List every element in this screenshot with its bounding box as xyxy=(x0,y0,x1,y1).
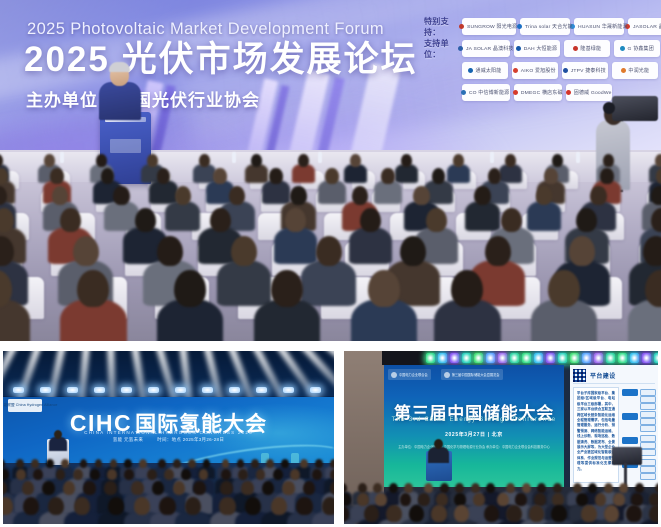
sponsor-logo: 通威太阳能 xyxy=(462,62,508,79)
audience-person-head xyxy=(245,497,261,515)
audience-person-body xyxy=(301,260,356,306)
audience-person-head xyxy=(357,493,369,506)
audience-person-head xyxy=(375,493,387,506)
audience-person-head xyxy=(77,270,109,307)
truss-lamp-icon xyxy=(486,353,495,363)
audience-person-head xyxy=(548,270,580,307)
audience-person-head xyxy=(522,483,531,493)
storage-speaker-head xyxy=(434,439,443,449)
audience-person-head xyxy=(134,497,150,515)
audience-person-head xyxy=(96,154,107,167)
audience-person-head xyxy=(185,497,201,515)
audience-person-head xyxy=(364,505,379,522)
hydrogen-theme: 氢能 元氢未来 xyxy=(113,437,143,443)
diagram-node xyxy=(640,435,656,442)
sponsor-logo: DMEGC 横店东磁 xyxy=(514,84,562,101)
sponsor-logo: 固德威 GoodWe xyxy=(566,84,612,101)
audience-person-head xyxy=(303,481,316,495)
audience-person-head xyxy=(316,236,342,266)
diagram-node xyxy=(640,442,656,449)
audience-person-head xyxy=(237,459,245,468)
audience-person-head xyxy=(613,493,625,506)
audience-person-head xyxy=(552,154,563,167)
hydrogen-congress-photo: 中国氢能联盟 China Hydrogen Alliance CIHC国际氢能大… xyxy=(3,351,334,524)
storage-organizers-line: 主办单位：中国电力企业联合会 中国化学与物理电源行业协会 承办单位：中国电力企业… xyxy=(398,445,550,450)
audience-person-head xyxy=(188,459,196,468)
audience-person-head xyxy=(325,168,339,184)
audience-person-head xyxy=(181,469,191,480)
hydrogen-speaker-body xyxy=(49,437,67,451)
audience-person-head xyxy=(231,236,257,266)
audience-person-head xyxy=(74,497,90,515)
truss-lamp-icon xyxy=(606,353,615,363)
header-badge: 第三届中国国际储能大会暨展览会 xyxy=(441,369,503,380)
audience-person-head xyxy=(152,481,165,495)
sponsor-logo-mark-icon xyxy=(620,46,625,51)
truss-lamp-icon xyxy=(450,353,459,363)
hydrogen-date: 时间：地点 2025年3月26-28日 xyxy=(157,437,224,443)
supporting-units-logos-row2: 通威太阳能AIKO 爱旭股份JTPV 捷泰科技中润光能DMI 大族数控 xyxy=(462,62,661,79)
audience-person-head xyxy=(147,154,158,167)
audience-person-head xyxy=(296,497,312,515)
stage-lamp-icon xyxy=(40,387,51,393)
stage-lamp-icon xyxy=(202,387,213,393)
sponsor-logo: JASOLAR 晶澳智慧 xyxy=(628,18,661,35)
stage-lamp-icon xyxy=(67,387,78,393)
audience-person-head xyxy=(604,505,619,522)
truss-lamp-icon xyxy=(558,353,567,363)
audience-person-body xyxy=(217,260,272,306)
audience-person-body xyxy=(447,164,470,183)
hydrogen-speaker-head xyxy=(54,430,62,439)
audience-person-head xyxy=(649,505,658,522)
diagram-node xyxy=(640,403,656,410)
truss-lamp-icon xyxy=(654,353,658,363)
supporting-units-label: 支持单位： xyxy=(424,38,462,60)
audience-person-head xyxy=(60,208,81,232)
sponsor-logo: JA SOLAR 晶澳科技 xyxy=(462,40,510,57)
audience-person-head xyxy=(199,469,209,480)
audience-person-head xyxy=(655,483,658,493)
sponsor-logo-mark-icon xyxy=(517,24,522,29)
header-badge-text: 第三届中国国际储能大会暨展览会 xyxy=(452,372,500,377)
audience-person-head xyxy=(300,459,308,468)
audience-person-head xyxy=(358,483,367,493)
sponsor-logo-text: 隆基绿能 xyxy=(580,45,601,52)
water-bottle xyxy=(318,152,322,163)
speaker-hair xyxy=(109,62,130,72)
audience-person-head xyxy=(400,493,412,506)
slide-text-box: 平台子库国家级平台、集团级/区域级平台、电站级平台三级部署，其中，三家以平台统合… xyxy=(573,387,619,483)
audience-person-head xyxy=(46,459,54,468)
sponsor-logo: AIKO 爱旭股份 xyxy=(512,62,558,79)
truss-lamp-icon xyxy=(546,353,555,363)
audience-person-head xyxy=(515,493,527,506)
audience-person-head xyxy=(573,483,582,493)
sponsor-logo-mark-icon xyxy=(566,90,571,95)
sponsor-logo-text: Trina solar 天合光能 xyxy=(525,23,573,30)
supporting-units-logos-row1: JA SOLAR 晶澳科技DAH 大恒能源隆基绿能G 协鑫集团阿特斯阳光 xyxy=(462,40,661,57)
audience-person-head xyxy=(290,469,300,480)
audience-person-head xyxy=(16,469,26,480)
lighting-truss xyxy=(382,351,658,365)
audience-person-head xyxy=(455,483,464,493)
photo-collage: 2025 Photovoltaic Market Development For… xyxy=(0,0,661,527)
audience-person-head xyxy=(551,505,566,522)
audience-person-head xyxy=(655,154,661,167)
audience-person-head xyxy=(344,493,351,506)
sponsor-logo-mark-icon xyxy=(573,46,578,51)
audience-person-head xyxy=(322,497,334,515)
audience-person-body xyxy=(104,201,139,230)
audience-person-head xyxy=(52,186,69,205)
audience-person-head xyxy=(251,154,262,167)
audience-person-head xyxy=(431,505,446,522)
audience-person-head xyxy=(266,459,274,468)
audience-person-head xyxy=(643,236,661,266)
audience-person-head xyxy=(241,481,254,495)
special-support-logos: SUNGROW 阳光电源Trina solar 天合光能HUASUN 华晟新能源… xyxy=(462,18,661,35)
audience-person-head xyxy=(454,505,469,522)
audience-person-head xyxy=(529,505,544,522)
diagram-node xyxy=(640,473,656,480)
sponsor-logo-text: AIKO 爱旭股份 xyxy=(521,67,556,74)
audience-person-head xyxy=(282,481,295,495)
sponsor-logo-text: 固德威 GoodWe xyxy=(574,89,612,96)
audience-person-head xyxy=(44,154,55,167)
audience-person-head xyxy=(271,497,287,515)
slide-body-text: 平台子库国家级平台、集团级/区域级平台、电站级平台三级部署，其中，三家以平台统合… xyxy=(577,391,615,472)
stage-lamp-icon xyxy=(229,387,240,393)
audience-person-head xyxy=(147,469,157,480)
audience-person-head xyxy=(651,208,661,232)
truss-lamp-icon xyxy=(474,353,483,363)
audience-person-head xyxy=(101,168,115,184)
audience-person-head xyxy=(409,505,424,522)
audience-person-head xyxy=(590,186,607,205)
forum-host-line: 主办单位：中国光伏行业协会 xyxy=(26,86,260,111)
audience-person-head xyxy=(536,186,553,205)
audience-person-head xyxy=(635,483,644,493)
audience-person-head xyxy=(485,236,511,266)
audience-person-head xyxy=(251,459,259,468)
audience-person-head xyxy=(159,497,175,515)
audience-person-head xyxy=(553,483,562,493)
audience-person-body xyxy=(349,227,393,264)
audience-person-head xyxy=(537,483,546,493)
slide-title: 平台建设 xyxy=(590,371,616,380)
audience-person-head xyxy=(61,459,69,468)
audience-person-head xyxy=(497,493,509,506)
audience-person-head xyxy=(193,481,206,495)
audience-person-head xyxy=(330,481,334,495)
audience-person-head xyxy=(210,208,231,232)
audience-person-head xyxy=(330,469,334,480)
sponsor-logo-mark-icon xyxy=(516,46,521,51)
audience-person-head xyxy=(56,469,66,480)
audience-person-head xyxy=(426,208,447,232)
audience-person-head xyxy=(16,459,24,468)
audience-person-head xyxy=(401,154,412,167)
water-bottle xyxy=(232,152,236,163)
forum-title-english: 2025 Photovoltaic Market Development For… xyxy=(27,20,384,39)
audience-person-head xyxy=(213,168,227,184)
audience-person-head xyxy=(576,208,597,232)
audience-person-head xyxy=(164,469,174,480)
storage-speaker-body xyxy=(428,447,449,463)
audience-person-head xyxy=(381,168,395,184)
truss-lamp-icon xyxy=(438,353,447,363)
audience-person-head xyxy=(600,168,614,184)
sponsor-logo-mark-icon xyxy=(461,90,466,95)
energy-storage-conference-photo: 中国电力企业联合会 第三届中国国际储能大会暨展览会 第三届中国储能大会 The … xyxy=(344,351,658,524)
truss-lamp-icon xyxy=(618,353,627,363)
audience-person-body xyxy=(527,201,562,230)
audience-person-head xyxy=(238,469,248,480)
audience-person-head xyxy=(473,493,485,506)
audience-person-head xyxy=(50,168,64,184)
audience-person-head xyxy=(63,481,76,495)
diagram-node xyxy=(640,411,656,418)
audience-person-head xyxy=(424,483,433,493)
audience-person-head xyxy=(124,469,134,480)
audience-person-head xyxy=(569,236,595,266)
audience-person-head xyxy=(474,186,491,205)
stage-lamp-icon xyxy=(13,387,24,393)
sponsor-logo: JTPV 捷泰科技 xyxy=(562,62,608,79)
audience-person-head xyxy=(453,154,464,167)
sponsor-logo-text: HUASUN 华晟新能源 xyxy=(578,23,628,30)
audience-person-head xyxy=(31,459,39,468)
badge-seal-icon xyxy=(391,372,397,378)
audience-person-head xyxy=(173,481,186,495)
sponsor-logo-text: SUNGROW 阳光电源 xyxy=(467,23,517,30)
audience-person-head xyxy=(604,483,613,493)
podium-text-panel xyxy=(110,139,141,153)
stage-lamp-icon xyxy=(121,387,132,393)
sponsor-logo-text: G 协鑫集团 xyxy=(627,45,653,52)
audience-person-head xyxy=(626,505,641,522)
audience-person-head xyxy=(113,186,130,205)
sponsor-logo-text: CO 中信博新能源 xyxy=(469,89,509,96)
storage-title-english: The 3rd China Energy Storage Conference xyxy=(384,417,564,423)
forum-title-chinese: 2025 光伏市场发展论坛 xyxy=(24,40,418,80)
audience-person-head xyxy=(0,168,8,184)
audience-person-body xyxy=(245,164,268,183)
supporting-units-row: 支持单位： JA SOLAR 晶澳科技DAH 大恒能源隆基绿能G 协鑫集团阿特斯… xyxy=(424,39,658,58)
sponsor-logo: Trina solar 天合光能 xyxy=(520,18,570,35)
audience-person-head xyxy=(368,270,400,307)
audience-person-head xyxy=(131,481,144,495)
storage-date-line: 2025年3月27日 | 北京 xyxy=(384,431,564,438)
main-forum-photo: 2025 Photovoltaic Market Development For… xyxy=(0,0,661,341)
truss-lamp-icon xyxy=(462,353,471,363)
audience-person-head xyxy=(389,483,398,493)
sponsor-logo-mark-icon xyxy=(621,68,626,73)
diagram-node xyxy=(640,418,656,425)
special-support-label: 特别支持： xyxy=(424,16,462,38)
audience-person-head xyxy=(451,270,483,307)
audience-person-head xyxy=(404,483,413,493)
sponsor-logo-text: JASOLAR 晶澳智慧 xyxy=(633,23,661,30)
audience-hall xyxy=(0,150,661,341)
special-support-row: 特别支持： SUNGROW 阳光电源Trina solar 天合光能HUASUN… xyxy=(424,17,658,36)
audience-person-head xyxy=(505,154,516,167)
audience-person-head xyxy=(588,483,597,493)
audience-person-head xyxy=(80,459,88,468)
audience-person-head xyxy=(501,208,522,232)
sponsor-logo: 隆基绿能 xyxy=(564,40,610,57)
audience-person-head xyxy=(506,505,521,522)
audience-person-head xyxy=(312,469,322,480)
audience-person-head xyxy=(271,270,303,307)
sponsor-logo-mark-icon xyxy=(513,90,518,95)
sponsor-logo-text: DAH 大恒能源 xyxy=(524,45,557,52)
audience-person-head xyxy=(219,497,235,515)
audience-person-head xyxy=(157,236,183,266)
diagram-node xyxy=(640,466,656,473)
audience-person-head xyxy=(285,208,306,232)
sponsor-logo-text: 通威太阳能 xyxy=(476,67,502,74)
audience-person-head xyxy=(360,208,381,232)
audience-person-body xyxy=(165,201,200,230)
stage-lamp-icon xyxy=(175,387,186,393)
truss-lamp-icon xyxy=(510,353,519,363)
audience-person-head xyxy=(273,469,283,480)
audience-person-head xyxy=(110,459,118,468)
audience-person-head xyxy=(158,459,166,468)
storage-broadcast-camera-icon xyxy=(612,447,642,465)
audience-person-head xyxy=(104,481,117,495)
audience-person-head xyxy=(488,168,502,184)
sponsor-logo-text: 中润光能 xyxy=(628,67,649,74)
sponsor-logo: CO 中信博新能源 xyxy=(462,84,510,101)
audience-person-head xyxy=(229,186,246,205)
header-badge: 中国电力企业联合会 xyxy=(388,369,431,380)
audience-person-body xyxy=(465,201,500,230)
audience-person-head xyxy=(603,154,614,167)
audience-person-head xyxy=(157,168,171,184)
speaker-body xyxy=(99,82,141,120)
audience-person-head xyxy=(203,459,211,468)
truss-lamp-icon xyxy=(534,353,543,363)
audience-person-head xyxy=(373,483,382,493)
audience-person-head xyxy=(595,493,607,506)
diagram-node xyxy=(640,449,656,456)
audience-person-head xyxy=(315,459,323,468)
sponsor-logo: SUNGROW 阳光电源 xyxy=(462,18,516,35)
truss-lamp-icon xyxy=(570,353,579,363)
sponsor-logo-panel: 特别支持： SUNGROW 阳光电源Trina solar 天合光能HUASUN… xyxy=(424,17,658,105)
slide-header: 平台建设 xyxy=(573,368,655,384)
truss-lamp-icon xyxy=(594,353,603,363)
audience-person-head xyxy=(135,208,156,232)
audience-person-body xyxy=(344,164,367,183)
qr-code-icon xyxy=(573,369,586,382)
audience-person-head xyxy=(199,154,210,167)
audience-person-head xyxy=(220,481,233,495)
audience-person-head xyxy=(139,459,147,468)
diagram-node xyxy=(640,389,656,396)
sponsor-logo-mark-icon xyxy=(468,68,473,73)
truss-lamp-icon xyxy=(642,353,651,363)
audience-person-body xyxy=(292,164,315,183)
truss-lamp-icon xyxy=(582,353,591,363)
sponsor-logo: G 协鑫集团 xyxy=(614,40,660,57)
audience-person-body xyxy=(274,227,318,264)
audience-person-head xyxy=(269,168,283,184)
sponsor-logo-mark-icon xyxy=(459,24,464,29)
audience-person-head xyxy=(73,236,99,266)
audience-person-head xyxy=(413,186,430,205)
presentation-slide-panel: 平台建设 平台子库国家级平台、集团级/区域级平台、电站级平台三级部署，其中，三家… xyxy=(570,365,658,487)
audience-person-head xyxy=(95,459,103,468)
audience-person-body xyxy=(318,180,346,204)
audience-person-head xyxy=(256,469,266,480)
diagram-node xyxy=(622,389,638,396)
audience-person-head xyxy=(290,186,307,205)
audience-person-head xyxy=(352,186,369,205)
stage-lamp-icon xyxy=(283,387,294,393)
audience-person-head xyxy=(262,481,275,495)
audience-person-head xyxy=(124,459,132,468)
sponsor-logo-mark-icon xyxy=(458,46,463,51)
water-bottle xyxy=(60,152,64,163)
supporting-units-row: 通威太阳能AIKO 爱旭股份JTPV 捷泰科技中润光能DMI 大族数控 xyxy=(424,61,658,80)
audience-person-head xyxy=(656,168,661,184)
sponsor-logo: DAH 大恒能源 xyxy=(514,40,560,57)
audience-person-head xyxy=(23,497,39,515)
sponsor-logo-mark-icon xyxy=(563,68,568,73)
truss-lamp-icon xyxy=(522,353,531,363)
audience-person-head xyxy=(73,469,83,480)
audience-person-head xyxy=(471,483,480,493)
water-bottle xyxy=(576,152,580,163)
truss-lamp-icon xyxy=(630,353,639,363)
audience-person-head xyxy=(418,493,430,506)
diagram-node xyxy=(640,425,656,432)
audience-person-head xyxy=(222,459,230,468)
stage-lamp-icon xyxy=(256,387,267,393)
audience-person-head xyxy=(651,186,661,205)
audience-person-head xyxy=(350,154,361,167)
stage-lamp-icon xyxy=(94,387,105,393)
audience-person-body xyxy=(374,180,402,204)
storage-stage-screen: 中国电力企业联合会 第三届中国国际储能大会暨展览会 第三届中国储能大会 The … xyxy=(384,365,564,487)
hydrogen-title-english: CHINA INTERNATIONAL HYDROGEN CONGRESS 20… xyxy=(3,430,334,435)
audience-person-head xyxy=(175,186,192,205)
audience-person-head xyxy=(484,505,499,522)
diagram-node xyxy=(640,396,656,403)
diagram-node xyxy=(622,413,638,420)
diagram-node xyxy=(622,437,638,444)
audience-person-head xyxy=(400,236,426,266)
header-badge-text: 中国电力企业联合会 xyxy=(399,372,428,377)
diagram-node xyxy=(640,459,656,466)
audience-person-head xyxy=(90,469,100,480)
sponsor-logo-text: DMEGC 横店东磁 xyxy=(521,89,563,96)
truss-lamp-icon xyxy=(498,353,507,363)
truss-lamp-icon xyxy=(426,353,435,363)
audience-person-head xyxy=(174,270,206,307)
audience-person-head xyxy=(173,459,181,468)
audience-person-head xyxy=(440,483,449,493)
audience-person-head xyxy=(83,481,96,495)
audience-person-head xyxy=(107,469,117,480)
audience-person-head xyxy=(486,483,495,493)
audience-person-head xyxy=(48,497,64,515)
audience-person-head xyxy=(506,483,515,493)
